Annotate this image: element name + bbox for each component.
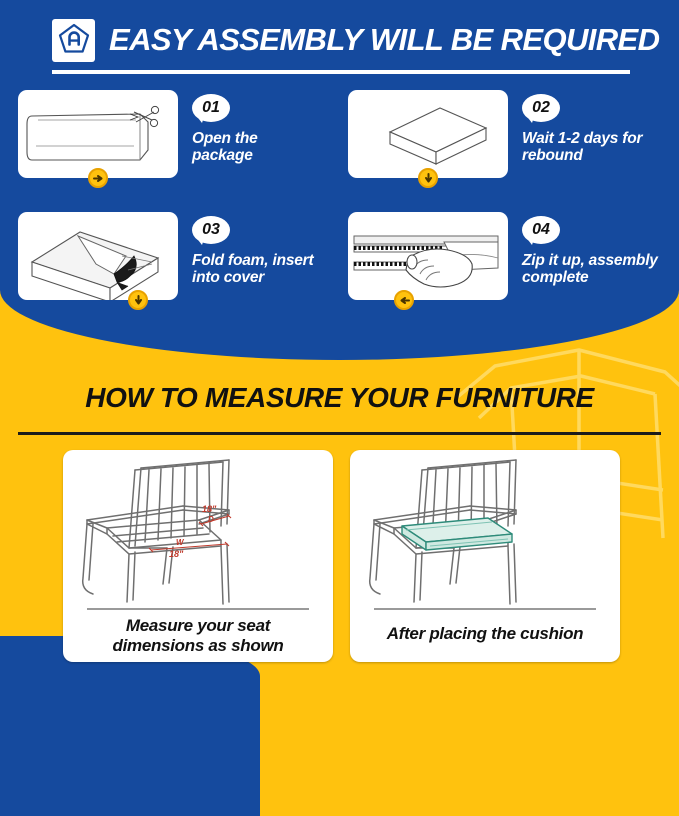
svg-text:18": 18" — [202, 504, 217, 514]
step-03: 03 Fold foam, insert into cover — [18, 212, 328, 300]
step-04-text: 04 Zip it up, assembly complete — [522, 212, 668, 287]
house-pentagon-icon — [57, 21, 91, 60]
chair-with-cushion-icon — [350, 454, 620, 606]
card-divider — [374, 608, 596, 610]
step-01-illustration-card — [18, 90, 178, 178]
step-02-illustration-card — [348, 90, 508, 178]
foam-inserted-into-cover-icon — [18, 287, 178, 304]
brand-logo — [52, 19, 95, 62]
measure-section-divider — [18, 432, 661, 435]
arrow-down-icon — [418, 168, 438, 188]
header-divider — [52, 70, 630, 74]
measure-card-cushion: After placing the cushion — [350, 450, 620, 662]
step-04-illustration-card — [348, 212, 508, 300]
step-01: 01 Open the package — [18, 90, 328, 178]
arrow-left-icon — [394, 290, 414, 310]
step-02-text: 02 Wait 1-2 days for rebound — [522, 90, 663, 165]
step-01-number-badge: 01 — [192, 94, 232, 126]
chair-with-dimensions-icon: 18" D W 18" — [63, 454, 333, 606]
step-01-label: Open the package — [192, 130, 328, 165]
measure-card-2-caption: After placing the cushion — [350, 624, 620, 644]
step-04-number-badge: 04 — [522, 216, 562, 248]
step-02-number-badge: 02 — [522, 94, 562, 126]
hand-zipping-zipper-icon — [348, 287, 508, 304]
step-03-text: 03 Fold foam, insert into cover — [192, 212, 328, 287]
card-divider — [87, 608, 309, 610]
arrow-right-icon — [88, 168, 108, 188]
step-03-illustration-card — [18, 212, 178, 300]
step-03-number-badge: 03 — [192, 216, 232, 248]
arrow-down-icon — [128, 290, 148, 310]
step-02-label: Wait 1-2 days for rebound — [522, 130, 663, 165]
step-03-label: Fold foam, insert into cover — [192, 252, 328, 287]
assembly-section: EASY ASSEMBLY WILL BE REQUIRED — [0, 0, 679, 360]
step-02: 02 Wait 1-2 days for rebound — [348, 90, 663, 178]
svg-text:18": 18" — [169, 549, 184, 559]
svg-text:D: D — [208, 515, 214, 524]
measure-card-dimensions: 18" D W 18" Measure your seat dimensions… — [63, 450, 333, 662]
step-04: 04 Zip it up, assembly complete — [348, 212, 668, 300]
step-01-text: 01 Open the package — [192, 90, 328, 165]
step-04-label: Zip it up, assembly complete — [522, 252, 668, 287]
bottom-left-blue-accent — [0, 636, 260, 816]
measure-card-1-caption: Measure your seat dimensions as shown — [63, 616, 333, 656]
measure-section-title: HOW TO MEASURE YOUR FURNITURE — [0, 382, 679, 414]
header: EASY ASSEMBLY WILL BE REQUIRED — [0, 10, 679, 70]
page-title: EASY ASSEMBLY WILL BE REQUIRED — [109, 22, 659, 58]
